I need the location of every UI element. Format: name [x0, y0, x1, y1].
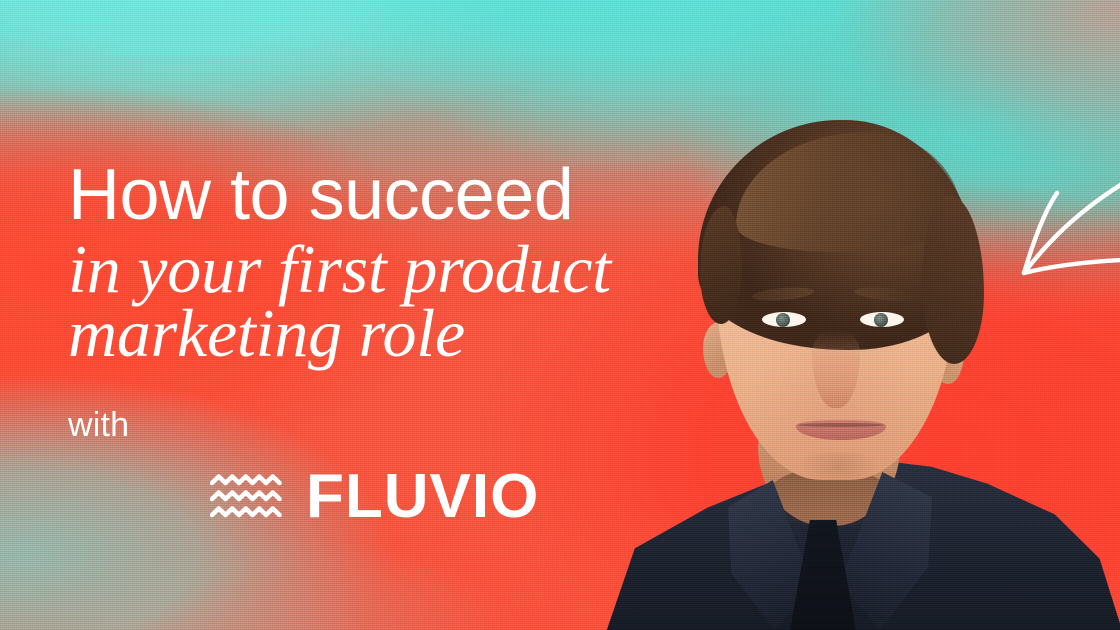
headline-line-1: How to succeed [68, 160, 708, 230]
headline-block: How to succeed in your first product mar… [68, 160, 708, 364]
fluvio-wordmark: FLUVIO [306, 466, 539, 528]
wave-lines-icon [210, 474, 284, 520]
headline-line-2: in your first product [68, 238, 708, 300]
fluvio-logo[interactable]: FLUVIO [210, 466, 539, 528]
hand-drawn-arrow-down-left-icon [1006, 180, 1120, 286]
headline-line-3: marketing role [68, 302, 708, 364]
with-label: with [68, 406, 129, 445]
promo-card: How to succeed in your first product mar… [0, 0, 1120, 630]
